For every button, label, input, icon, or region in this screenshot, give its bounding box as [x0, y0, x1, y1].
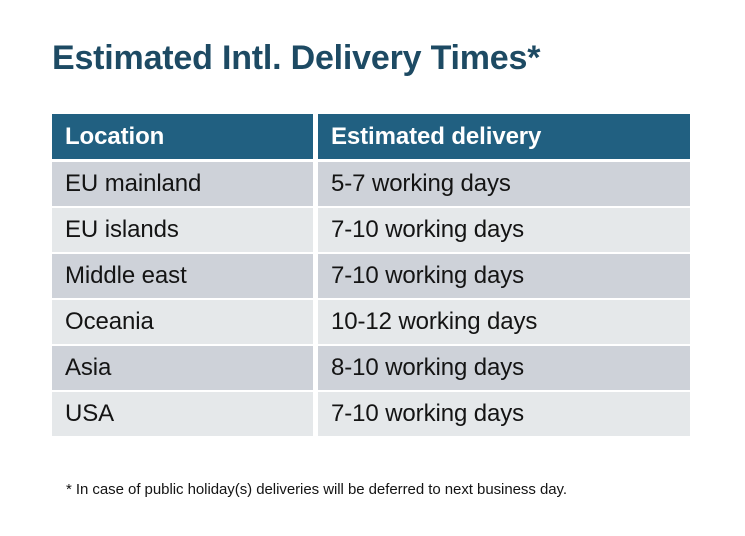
cell-location: Asia [52, 346, 313, 390]
delivery-times-table: Location Estimated delivery EU mainland … [52, 114, 690, 438]
cell-location: EU islands [52, 208, 313, 252]
table-row: EU islands 7-10 working days [52, 208, 690, 252]
cell-location: USA [52, 392, 313, 436]
table-row: Asia 8-10 working days [52, 346, 690, 390]
table-row: Middle east 7-10 working days [52, 254, 690, 298]
table-row: USA 7-10 working days [52, 392, 690, 436]
cell-location: EU mainland [52, 162, 313, 206]
table-row: Oceania 10-12 working days [52, 300, 690, 344]
cell-location: Oceania [52, 300, 313, 344]
cell-estimated-delivery: 7-10 working days [318, 208, 690, 252]
cell-estimated-delivery: 10-12 working days [318, 300, 690, 344]
column-header-location: Location [52, 114, 313, 159]
cell-estimated-delivery: 8-10 working days [318, 346, 690, 390]
column-header-estimated-delivery: Estimated delivery [318, 114, 690, 159]
footnote-text: * In case of public holiday(s) deliverie… [66, 481, 567, 498]
cell-estimated-delivery: 7-10 working days [318, 254, 690, 298]
cell-location: Middle east [52, 254, 313, 298]
cell-estimated-delivery: 5-7 working days [318, 162, 690, 206]
table-header-row: Location Estimated delivery [52, 114, 690, 159]
page-title: Estimated Intl. Delivery Times* [52, 36, 540, 80]
cell-estimated-delivery: 7-10 working days [318, 392, 690, 436]
table-row: EU mainland 5-7 working days [52, 162, 690, 206]
delivery-times-page: Estimated Intl. Delivery Times* Location… [0, 0, 745, 536]
